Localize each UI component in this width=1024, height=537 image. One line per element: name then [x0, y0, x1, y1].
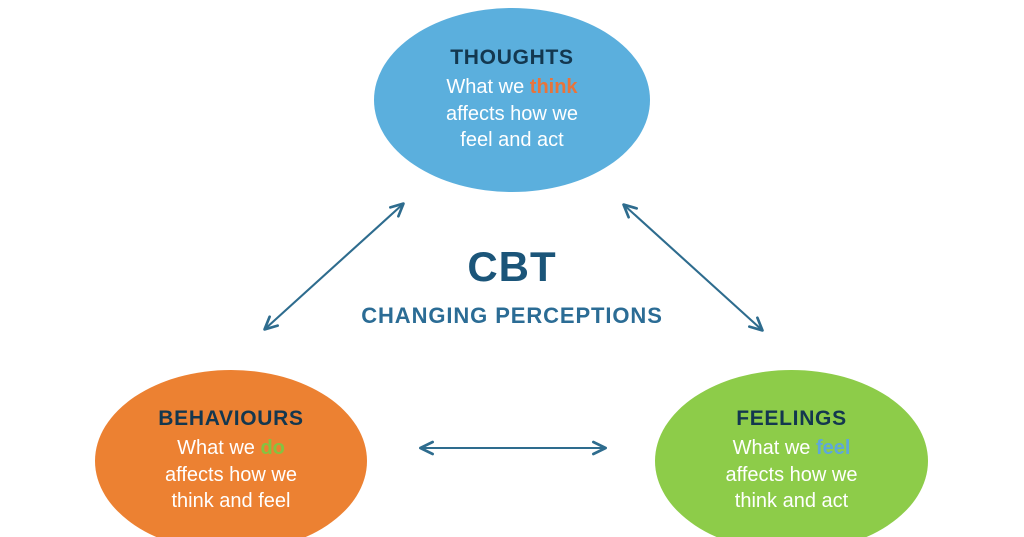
- node-behaviours-line1-prefix: What we: [177, 437, 260, 459]
- node-feelings[interactable]: FEELINGS What we feel affects how we thi…: [655, 370, 928, 537]
- node-feelings-line2: affects how we: [726, 464, 858, 486]
- node-behaviours-title: BEHAVIOURS: [158, 407, 303, 430]
- node-feelings-highlight: feel: [816, 437, 850, 459]
- node-behaviours-line2: affects how we: [165, 464, 297, 486]
- node-thoughts[interactable]: THOUGHTS What we think affects how we fe…: [374, 8, 650, 192]
- node-feelings-title: FEELINGS: [736, 407, 847, 430]
- node-feelings-line3: think and act: [735, 490, 848, 512]
- node-thoughts-title: THOUGHTS: [450, 46, 573, 69]
- node-behaviours-line3: think and feel: [172, 490, 291, 512]
- node-feelings-body: What we feel affects how we think and ac…: [712, 435, 872, 514]
- node-behaviours-body: What we do affects how we think and feel: [151, 435, 311, 514]
- node-behaviours-highlight: do: [260, 437, 284, 459]
- node-thoughts-line3: feel and act: [460, 129, 563, 151]
- center-label-block: CBT CHANGING PERCEPTIONS: [0, 246, 1024, 327]
- diagram-title: CBT: [0, 246, 1024, 288]
- node-behaviours[interactable]: BEHAVIOURS What we do affects how we thi…: [95, 370, 367, 537]
- cbt-diagram-canvas: CBT CHANGING PERCEPTIONS THOUGHTS What w…: [0, 0, 1024, 537]
- node-thoughts-highlight: think: [530, 76, 578, 98]
- node-thoughts-body: What we think affects how we feel and ac…: [432, 74, 592, 153]
- node-feelings-line1-prefix: What we: [733, 437, 816, 459]
- node-thoughts-line2: affects how we: [446, 103, 578, 125]
- node-thoughts-line1-prefix: What we: [446, 76, 529, 98]
- diagram-subtitle: CHANGING PERCEPTIONS: [0, 305, 1024, 327]
